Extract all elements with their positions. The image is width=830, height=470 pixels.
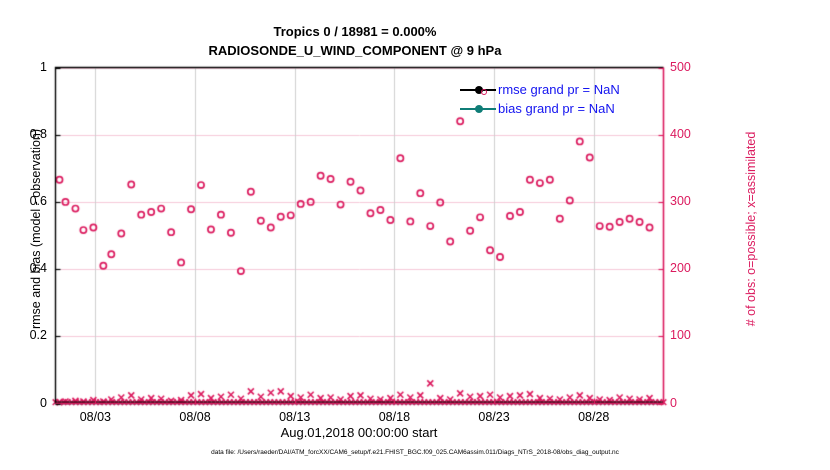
legend-marker-rmse — [458, 81, 498, 99]
figure-container: Tropics 0 / 18981 = 0.000% RADIOSONDE_U_… — [0, 0, 830, 470]
x-tick-0: 08/03 — [65, 410, 125, 424]
chart-legend: rmse grand pr = NaN bias grand pr = NaN — [458, 80, 620, 118]
y-right-tick-2: 200 — [670, 261, 720, 275]
y-left-tick-3: 0.6 — [5, 194, 47, 208]
legend-dot-bias — [475, 105, 483, 113]
legend-label-rmse: rmse grand pr = NaN — [498, 82, 620, 97]
x-tick-3: 08/18 — [364, 410, 424, 424]
y-right-tick-0: 0 — [670, 396, 720, 410]
y-axis-right-label: # of obs: o=possible; x=assimilated — [744, 59, 758, 399]
y-left-tick-5: 1 — [5, 60, 47, 74]
y-left-tick-2: 0.4 — [5, 261, 47, 275]
x-tick-5: 08/28 — [564, 410, 624, 424]
legend-item-rmse: rmse grand pr = NaN — [458, 80, 620, 99]
y-left-tick-0: 0 — [5, 396, 47, 410]
x-tick-4: 08/23 — [464, 410, 524, 424]
y-right-tick-3: 300 — [670, 194, 720, 208]
legend-marker-bias — [458, 100, 498, 118]
y-right-tick-1: 100 — [670, 328, 720, 342]
legend-item-bias: bias grand pr = NaN — [458, 99, 620, 118]
y-right-tick-4: 400 — [670, 127, 720, 141]
x-tick-1: 08/08 — [165, 410, 225, 424]
y-axis-left-label: rmse and bias (model - observation) — [29, 59, 43, 399]
y-right-tick-5: 500 — [670, 60, 720, 74]
legend-label-bias: bias grand pr = NaN — [498, 101, 615, 116]
x-tick-2: 08/13 — [265, 410, 325, 424]
y-left-tick-4: 0.8 — [5, 127, 47, 141]
legend-ring-obs-icon — [481, 89, 487, 95]
data-file-note: data file: /Users/raeder/DAI/ATM_forcXX/… — [0, 449, 830, 456]
y-left-tick-1: 0.2 — [5, 328, 47, 342]
x-axis-label: Aug.01,2018 00:00:00 start — [55, 425, 663, 440]
